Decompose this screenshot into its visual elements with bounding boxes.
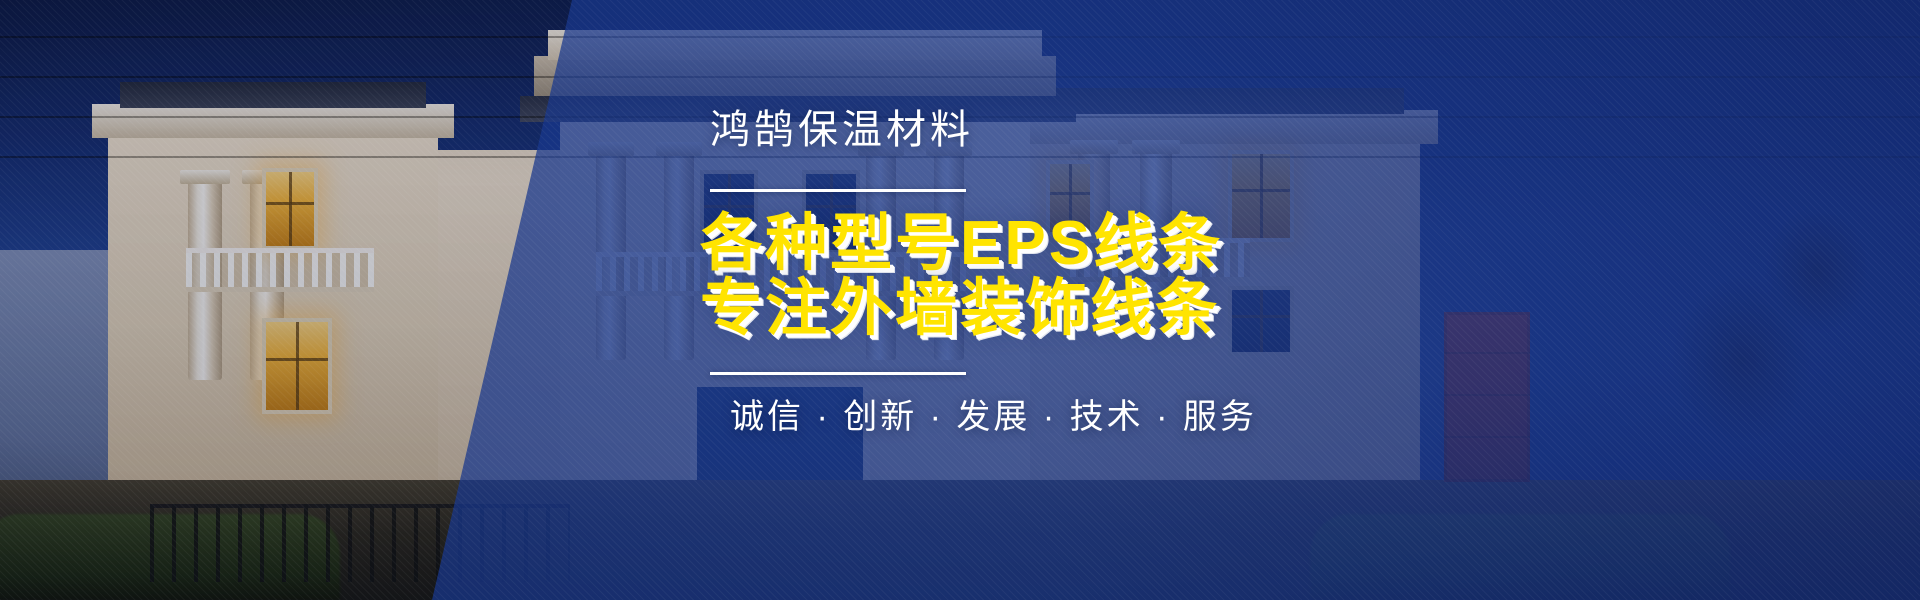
banner-content: 鸿鹄保温材料 各种型号EPS线条 专注外墙装饰线条 诚信 · 创新 · 发展 ·…	[0, 0, 1920, 600]
brand-name: 鸿鹄保温材料	[710, 110, 974, 150]
hero-banner: 鸿鹄保温材料 各种型号EPS线条 专注外墙装饰线条 诚信 · 创新 · 发展 ·…	[0, 0, 1920, 600]
headline-line-2: 专注外墙装饰线条	[700, 277, 1220, 341]
divider-bottom	[710, 372, 966, 375]
tagline: 诚信 · 创新 · 发展 · 技术 · 服务	[730, 400, 1257, 434]
divider-top	[710, 189, 966, 192]
headline-line-1: 各种型号EPS线条	[700, 212, 1223, 276]
